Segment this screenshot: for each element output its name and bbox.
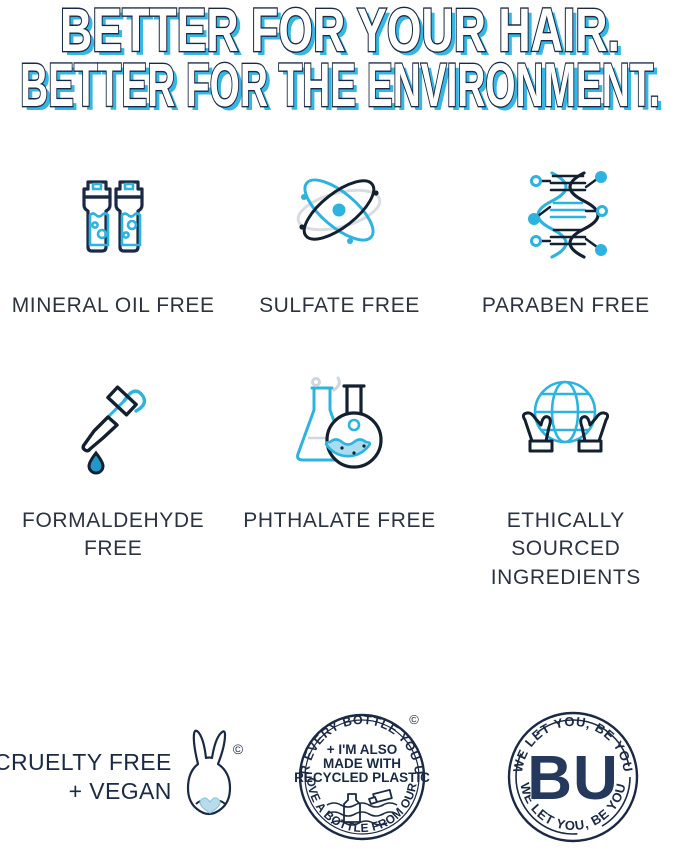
badge-cruelty-free-vegan: CRUELTY FREE + VEGAN © xyxy=(0,702,256,852)
dropper-pipette-icon xyxy=(58,365,168,485)
feature-label: PHTHALATE FREE xyxy=(243,507,435,535)
headline-artwork: .hl-shadow { font-family: "Liberation Sa… xyxy=(10,4,670,124)
headline: .hl-shadow { font-family: "Liberation Sa… xyxy=(0,0,679,124)
feature-label: ETHICALLY SOURCED INGREDIENTS xyxy=(461,507,671,592)
badge-brand-seal: WE LET YOU, BE YOU WE LET YOU, BE YOU BU xyxy=(467,702,679,852)
feature-grid: MINERAL OIL FREE SULFATE FREE xyxy=(0,150,679,595)
feature-label: MINERAL OIL FREE xyxy=(12,292,215,320)
feature-item-paraben-free: PARABEN FREE xyxy=(453,150,679,320)
copyright-symbol: © xyxy=(409,712,419,727)
feature-label: SULFATE FREE xyxy=(259,292,420,320)
bu-brand-seal-icon: WE LET YOU, BE YOU WE LET YOU, BE YOU BU xyxy=(502,706,644,848)
feature-label: PARABEN FREE xyxy=(482,292,650,320)
copyright-symbol: © xyxy=(233,741,244,757)
feature-item-ethically-sourced: ETHICALLY SOURCED INGREDIENTS xyxy=(453,365,679,592)
globe-in-hands-icon xyxy=(503,365,628,485)
seal-center-line3: RECYCLED PLASTIC xyxy=(294,770,430,785)
feature-item-mineral-oil-free: MINERAL OIL FREE xyxy=(0,150,226,320)
feature-label: FORMALDEHYDE FREE xyxy=(8,507,218,564)
cruelty-free-line1: CRUELTY FREE xyxy=(0,749,172,775)
atom-icon xyxy=(280,150,398,270)
badge-row: CRUELTY FREE + VEGAN © · FOR EVERY BOTTL… xyxy=(0,700,679,853)
feature-item-phthalate-free: PHTHALATE FREE xyxy=(226,365,452,535)
seal-center-line1: + I'M ALSO xyxy=(326,742,397,757)
feature-item-formaldehyde-free: FORMALDEHYDE FREE xyxy=(0,365,226,564)
cruelty-free-label: CRUELTY FREE + VEGAN xyxy=(0,748,172,806)
bunny-icon: © xyxy=(176,724,250,829)
ocean-bottle-seal-icon: · FOR EVERY BOTTLE YOU USE · WE REMOVE A… xyxy=(287,702,437,852)
brand-monogram: BU xyxy=(527,744,619,813)
seal-center-line2: MADE WITH xyxy=(323,756,401,771)
cruelty-free-line2: + VEGAN xyxy=(0,777,172,806)
feature-item-sulfate-free: SULFATE FREE xyxy=(226,150,452,320)
two-bottles-icon xyxy=(58,150,168,270)
lab-flasks-icon xyxy=(282,365,397,485)
headline-line2: BETTER FOR THE ENVIRONMENT. xyxy=(20,50,660,119)
badge-recycled-plastic: · FOR EVERY BOTTLE YOU USE · WE REMOVE A… xyxy=(256,702,468,852)
dna-helix-icon xyxy=(506,150,626,270)
